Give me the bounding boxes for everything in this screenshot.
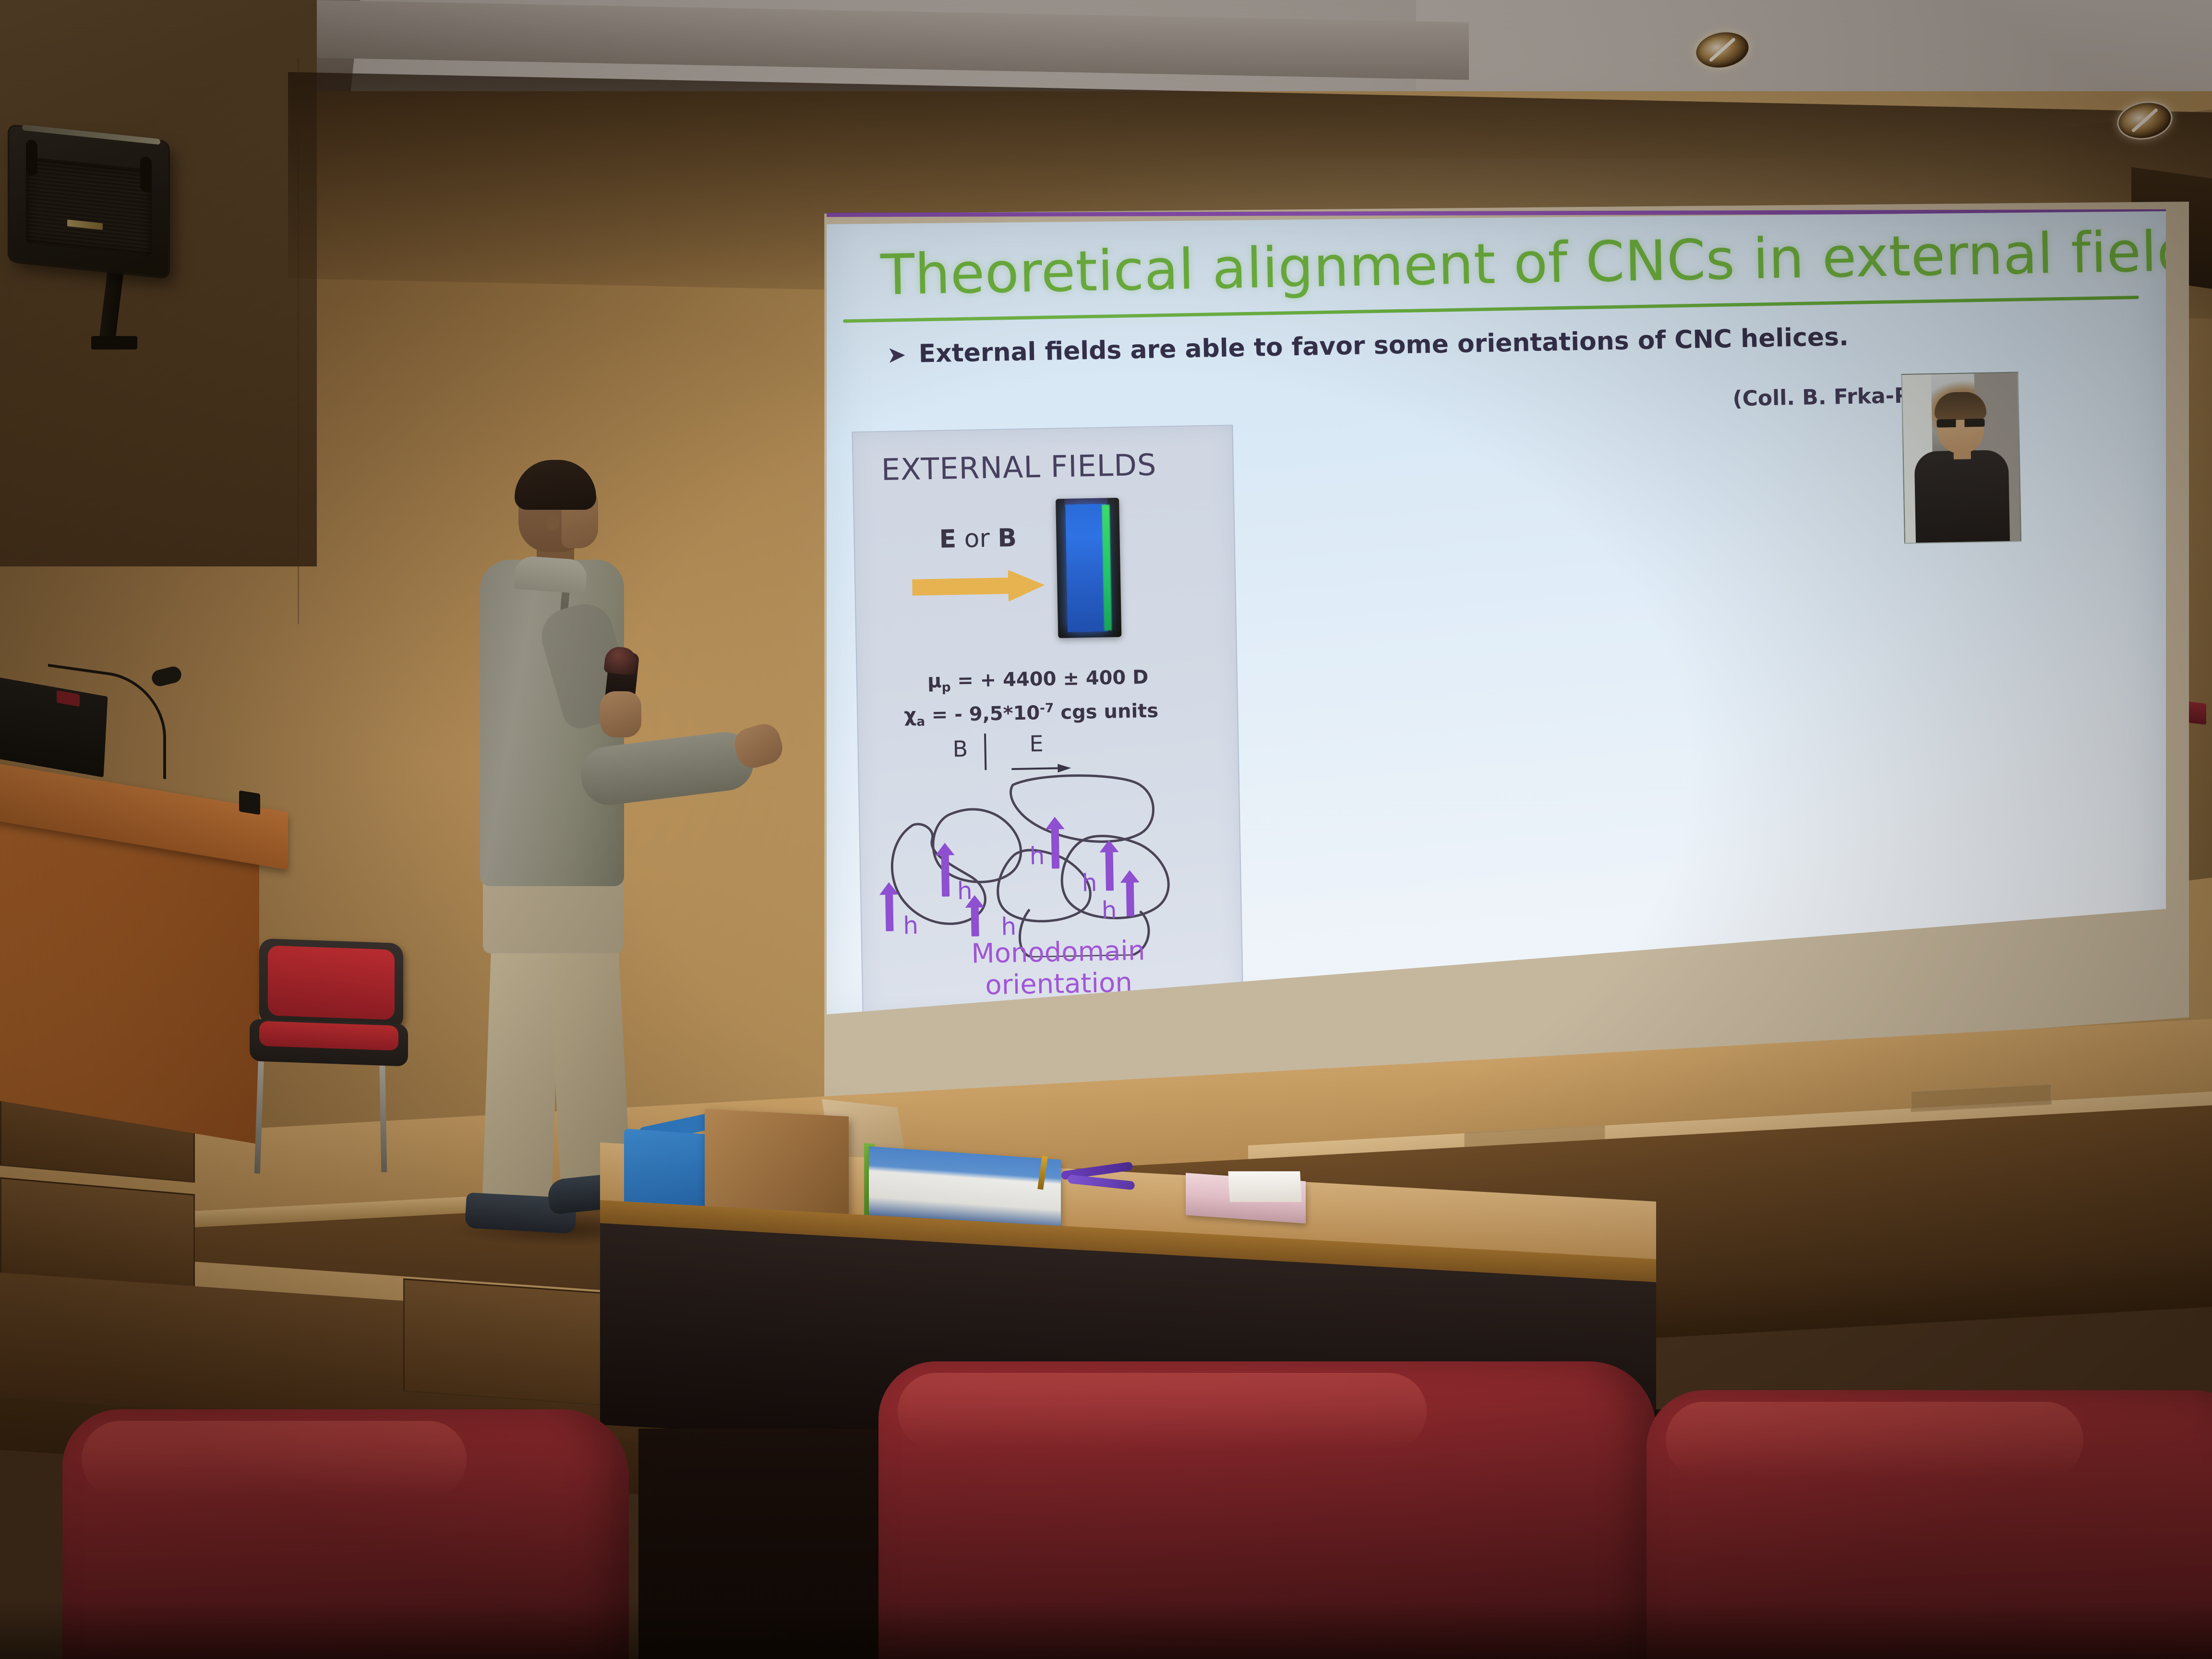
foreground-shadow [0,1601,2212,1659]
vial-green-edge [1102,505,1112,630]
left-wall [0,0,317,566]
pa-speaker [10,126,168,277]
monodomain-caption-line1: Monodomain [924,934,1193,971]
external-fields-panel: EXTERNAL FIELDS E or B μp = + 4400 ± 400… [852,425,1243,1017]
chair-leg [254,1054,264,1174]
speaker-handle-slot [140,156,152,193]
mu-value: = + 4400 ± 400 D [950,666,1149,692]
helix-label: h [1101,896,1117,925]
dipole-moment-formula: μp = + 4400 ± 400 D [927,666,1149,695]
helix-arrow-icon [1126,881,1134,916]
field-label-or: or [956,524,998,554]
glasses-icon [1936,419,1984,428]
helix-label: h [1001,913,1017,941]
presenter-collar [514,555,588,594]
speaker-bracket-foot [91,336,137,349]
mu-subscript: p [941,680,950,695]
external-fields-heading: EXTERNAL FIELDS [881,447,1157,487]
speaker-handle-slot [26,139,37,176]
presenter-ear [545,514,560,531]
mu-symbol: μ [927,670,942,693]
cable-box [239,791,260,815]
axis-b-line-icon [984,733,986,770]
lecture-hall-photo: Theoretical alignment of CNCs in externa… [0,0,2212,1659]
field-label-b: B [998,524,1017,553]
slide-title: Theoretical alignment of CNCs in externa… [880,220,2110,308]
chi-exponent: -7 [1040,701,1054,716]
chi-symbol: χ [904,704,917,726]
chair-leg [379,1052,387,1172]
collaborator-photo [1901,372,2021,544]
slide-bullet-text: External fields are able to favor some o… [918,323,1849,369]
presenter-mic-hand [600,691,641,737]
helix-arrow-icon [1105,850,1114,890]
stage-chair[interactable] [250,938,413,1193]
axis-b-label: B [952,736,968,762]
chi-subscript: a [916,714,925,729]
helix-label: h [1082,869,1097,897]
field-direction-arrow-icon [912,569,1047,603]
slide-surface: Theoretical alignment of CNCs in externa… [827,211,2166,1022]
field-type-label: E or B [939,524,1017,554]
sample-vial-photo [1056,498,1121,638]
helix-arrow-icon [971,905,979,936]
helix-arrow-icon [941,854,950,897]
bullet-arrow-icon: ➤ [887,343,906,367]
helix-arrow-icon [1051,827,1060,868]
axis-e-label: E [1029,731,1044,757]
chair-seat-cushion [259,1021,398,1051]
slide-bullet: ➤ External fields are able to favor some… [887,320,2039,370]
helix-label: h [1029,842,1045,870]
susceptibility-formula: χa = - 9,5*10-7 cgs units [904,699,1159,730]
presenter-leg [482,935,561,1211]
presenter-hair [515,460,596,510]
speaker-grille-icon [26,156,152,256]
projection-screen: Theoretical alignment of CNCs in externa… [816,202,2189,1123]
helix-label: h [903,912,919,940]
chi-value: = - 9,5*10 [925,702,1040,726]
pen-group[interactable] [1061,1166,1147,1186]
photo-torso [1914,450,2010,544]
paper-sheet [1228,1171,1301,1202]
field-label-e: E [939,525,957,554]
helix-arrow-icon [885,893,893,931]
vial-blue-glow [1065,504,1108,632]
chi-units: cgs units [1054,700,1158,724]
wall-seam [298,58,299,624]
chair-backrest-cushion [268,945,395,1020]
